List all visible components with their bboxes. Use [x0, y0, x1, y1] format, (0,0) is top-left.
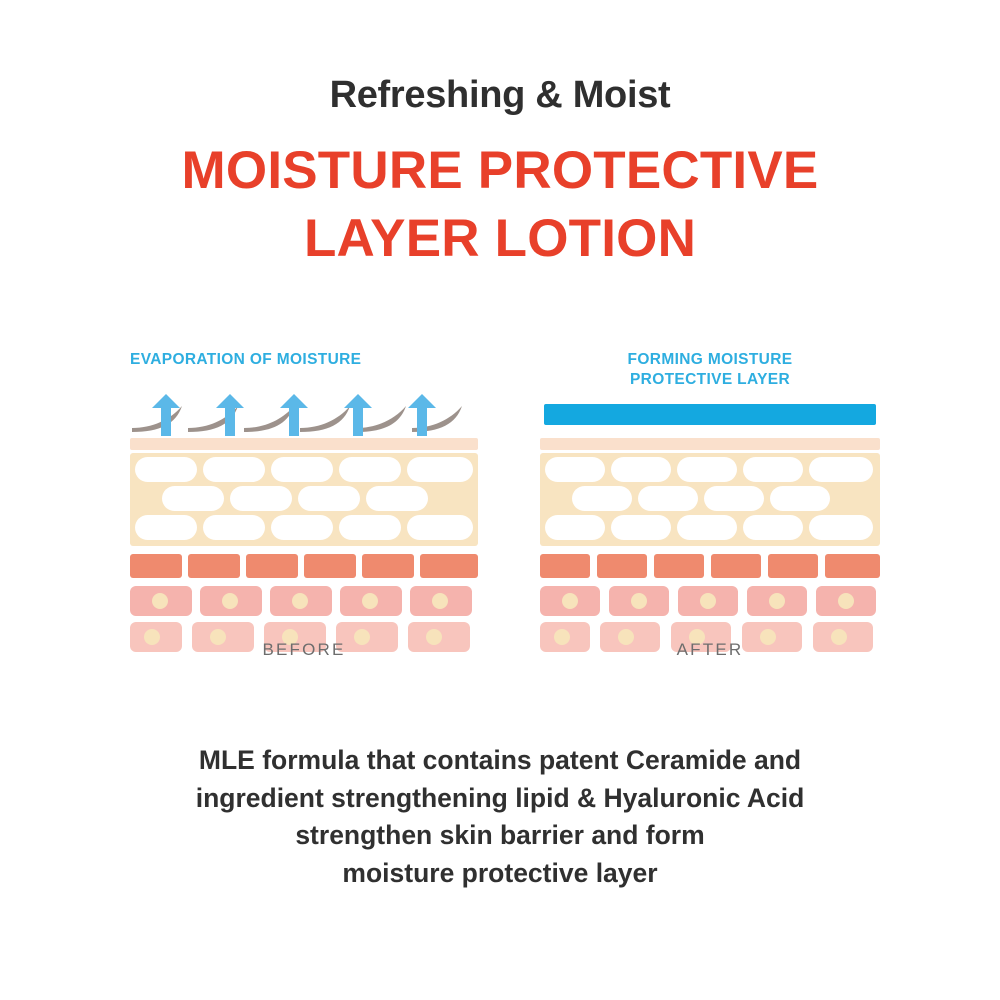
- caption-before: BEFORE: [130, 640, 478, 660]
- panel-title-before: EVAPORATION OF MOISTURE: [130, 350, 478, 394]
- body-line-2: ingredient strengthening lipid & Hyaluro…: [0, 780, 1000, 818]
- skin-surface-band-before: [130, 438, 478, 450]
- granular-layer-after: [540, 554, 880, 578]
- evaporation-group: [130, 394, 478, 436]
- panel-title-after-line-1: FORMING MOISTURE: [540, 350, 880, 370]
- panel-title-after-line-2: PROTECTIVE LAYER: [540, 370, 880, 390]
- headline-line-1: MOISTURE PROTECTIVE: [0, 137, 1000, 205]
- eyebrow-heading: Refreshing & Moist: [0, 74, 1000, 117]
- cell-row-1-after: [540, 457, 880, 482]
- epidermis-block-after: [540, 453, 880, 546]
- cell-row-2-before: [130, 486, 478, 511]
- skin-surface-band-after: [540, 438, 880, 450]
- skin-cross-section-after: [540, 394, 880, 644]
- skin-cross-section-before: [130, 394, 478, 644]
- panel-title-after: FORMING MOISTURE PROTECTIVE LAYER: [540, 350, 880, 394]
- evaporation-svg: [130, 394, 478, 436]
- page-title: MOISTURE PROTECTIVE LAYER LOTION: [0, 137, 1000, 273]
- basal-layer-row-1-before: [130, 586, 478, 616]
- granular-layer-before: [130, 554, 478, 578]
- diagram-panel-before: EVAPORATION OF MOISTURE: [130, 350, 478, 644]
- cell-row-2-after: [540, 486, 880, 511]
- body-description: MLE formula that contains patent Ceramid…: [0, 742, 1000, 893]
- body-line-4: moisture protective layer: [0, 855, 1000, 893]
- headline-line-2: LAYER LOTION: [0, 205, 1000, 273]
- moisture-protective-film: [544, 404, 876, 425]
- body-line-1: MLE formula that contains patent Ceramid…: [0, 742, 1000, 780]
- caption-after: AFTER: [540, 640, 880, 660]
- basal-layer-row-1-after: [540, 586, 880, 616]
- cell-row-1-before: [130, 457, 478, 482]
- epidermis-block-before: [130, 453, 478, 546]
- diagram-panel-after: FORMING MOISTURE PROTECTIVE LAYER: [540, 350, 880, 644]
- cell-row-3-before: [130, 515, 478, 540]
- cell-row-3-after: [540, 515, 880, 540]
- body-line-3: strengthen skin barrier and form: [0, 817, 1000, 855]
- product-infographic: Refreshing & Moist MOISTURE PROTECTIVE L…: [0, 0, 1000, 1000]
